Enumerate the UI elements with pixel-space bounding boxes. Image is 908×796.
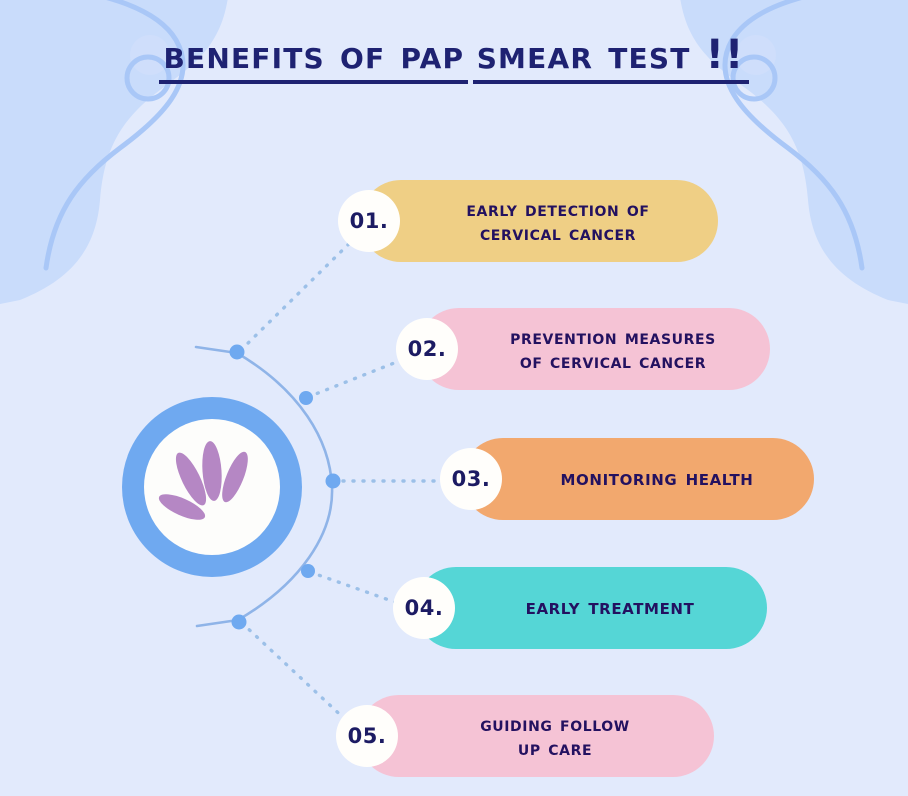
node-dot-1 [230,345,245,360]
benefit-badge-1: 01. [338,190,400,252]
benefit-badge-5: 05. [336,705,398,767]
central-emblem [122,397,302,577]
benefit-label-1: Early detection of cervical cancer [360,197,718,246]
connector-lines [0,0,908,796]
benefit-label-5: Guiding follow up care [358,712,714,761]
infographic-poster: Benefits of pap smear test !! [0,0,908,796]
node-dot-2 [299,391,313,405]
benefit-row-2[interactable]: 02. Prevention measures of cervical canc… [418,308,770,390]
title-line-2: smear test !! [473,33,749,84]
benefit-row-3[interactable]: 03. Monitoring health [462,438,814,520]
benefit-number-2: 02. [408,337,447,361]
benefit-number-3: 03. [452,467,491,491]
benefit-row-4[interactable]: 04. Early treatment [415,567,767,649]
benefit-number-4: 04. [405,596,444,620]
flower-petals-icon [157,435,267,539]
benefit-pill-1[interactable]: 01. Early detection of cervical cancer [360,180,718,262]
benefit-pill-3[interactable]: 03. Monitoring health [462,438,814,520]
benefit-label-4: Early treatment [415,595,767,622]
benefit-label-3: Monitoring health [462,466,814,493]
emblem-inner-circle [144,419,280,555]
benefit-row-1[interactable]: 01. Early detection of cervical cancer [360,180,718,262]
node-dot-3 [326,474,341,489]
benefit-pill-2[interactable]: 02. Prevention measures of cervical canc… [418,308,770,390]
benefit-badge-2: 02. [396,318,458,380]
node-dot-4 [301,564,315,578]
benefit-badge-3: 03. [440,448,502,510]
benefit-pill-5[interactable]: 05. Guiding follow up care [358,695,714,777]
benefit-number-5: 05. [348,724,387,748]
node-dot-5 [232,615,247,630]
benefit-badge-4: 04. [393,577,455,639]
poster-title: Benefits of pap smear test !! [0,22,908,84]
branch-dotted-1 [241,228,365,350]
benefit-row-5[interactable]: 05. Guiding follow up care [358,695,714,777]
benefit-label-2: Prevention measures of cervical cancer [418,325,770,374]
benefit-number-1: 01. [350,209,389,233]
title-line-1: Benefits of pap [159,33,468,84]
benefit-pill-4[interactable]: 04. Early treatment [415,567,767,649]
